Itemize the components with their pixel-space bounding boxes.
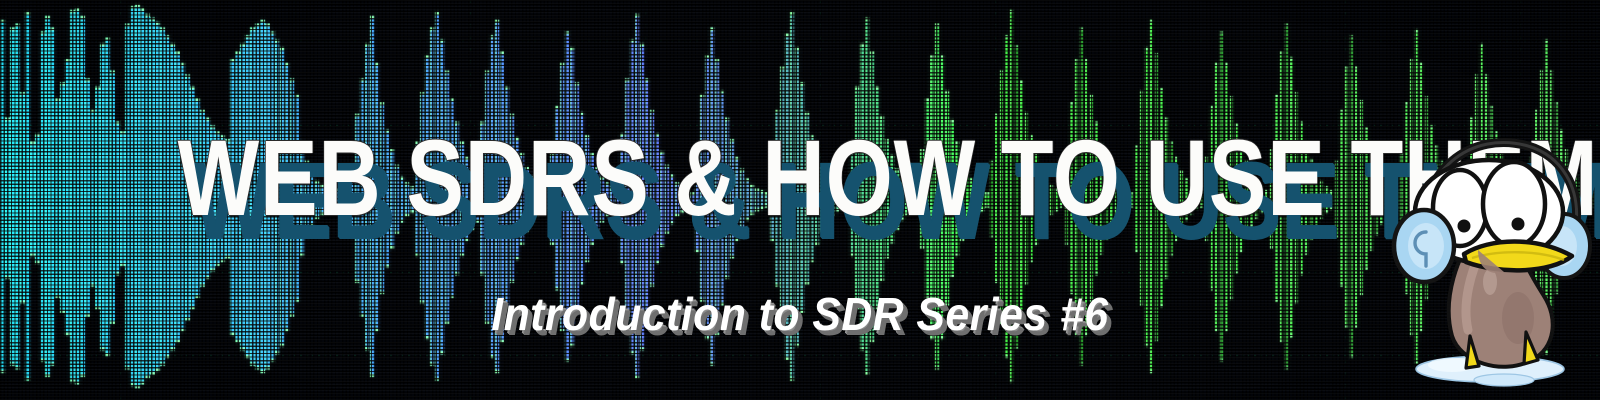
spectrum-canvas [0,0,1600,400]
banner-root: WEB SDRS & HOW TO USE THEM Introduction … [0,0,1600,400]
spectrum-analyzer-background [0,0,1600,400]
